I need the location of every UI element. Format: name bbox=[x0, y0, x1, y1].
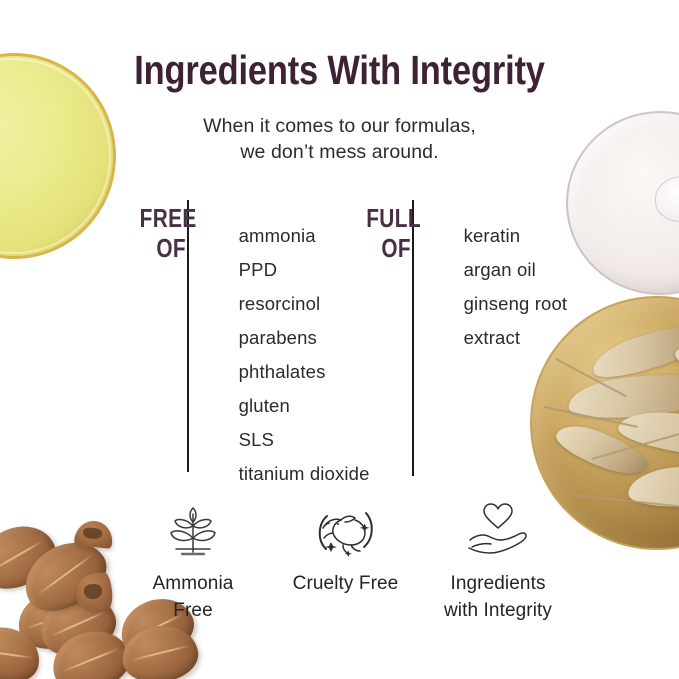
badge-caption: Ammonia Free bbox=[118, 570, 268, 624]
badge-caption-line-1: Cruelty Free bbox=[271, 570, 421, 597]
list-item: PPD bbox=[239, 253, 370, 287]
free-of-divider bbox=[187, 200, 189, 472]
subtitle-line-1: When it comes to our formulas, bbox=[0, 113, 679, 139]
badge-caption-line-2: Free bbox=[118, 597, 268, 624]
badge-caption: Cruelty Free bbox=[271, 570, 421, 597]
badge-cruelty-free: Cruelty Free bbox=[271, 500, 421, 624]
plant-sprout-icon bbox=[118, 500, 268, 562]
subtitle: When it comes to our formulas, we don’t … bbox=[0, 113, 679, 165]
badge-ammonia-free: Ammonia Free bbox=[118, 500, 268, 624]
badge-caption-line-2: with Integrity bbox=[423, 597, 573, 624]
list-item: keratin bbox=[464, 219, 614, 253]
list-item: ammonia bbox=[239, 219, 370, 253]
full-of-label: FULL OF bbox=[366, 200, 411, 263]
free-of-list: ammonia PPD resorcinol parabens phthalat… bbox=[199, 219, 370, 491]
leaping-bunny-icon bbox=[271, 500, 421, 562]
free-of-label-line-2: OF bbox=[140, 233, 186, 263]
free-of-label-line-1: FREE bbox=[140, 203, 186, 233]
free-of-column: FREE OF ammonia PPD resorcinol parabens … bbox=[128, 200, 370, 509]
list-item: argan oil bbox=[464, 253, 614, 287]
list-item: parabens bbox=[239, 321, 370, 355]
full-of-label-line-2: OF bbox=[366, 233, 411, 263]
ingredients-infographic: Ingredients With Integrity When it comes… bbox=[0, 0, 679, 679]
badge-caption-line-1: Ammonia bbox=[118, 570, 268, 597]
badge-caption-line-1: Ingredients bbox=[423, 570, 573, 597]
badge-row: Ammonia Free bbox=[118, 500, 573, 624]
free-of-label: FREE OF bbox=[140, 200, 186, 263]
page-title: Ingredients With Integrity bbox=[54, 47, 624, 94]
full-of-label-line-1: FULL bbox=[366, 203, 411, 233]
list-item: ginseng root extract bbox=[464, 287, 614, 355]
full-of-column: FULL OF keratin argan oil ginseng root e… bbox=[355, 200, 614, 476]
list-item: titanium dioxide bbox=[239, 457, 370, 491]
list-item: gluten bbox=[239, 389, 370, 423]
list-item: SLS bbox=[239, 423, 370, 457]
list-item: resorcinol bbox=[239, 287, 370, 321]
badge-caption: Ingredients with Integrity bbox=[423, 570, 573, 624]
list-item: phthalates bbox=[239, 355, 370, 389]
hand-heart-icon bbox=[423, 500, 573, 562]
subtitle-line-2: we don’t mess around. bbox=[0, 139, 679, 165]
badge-ingredients-with-integrity: Ingredients with Integrity bbox=[423, 500, 573, 624]
full-of-list: keratin argan oil ginseng root extract bbox=[424, 219, 614, 355]
full-of-divider bbox=[412, 200, 414, 476]
